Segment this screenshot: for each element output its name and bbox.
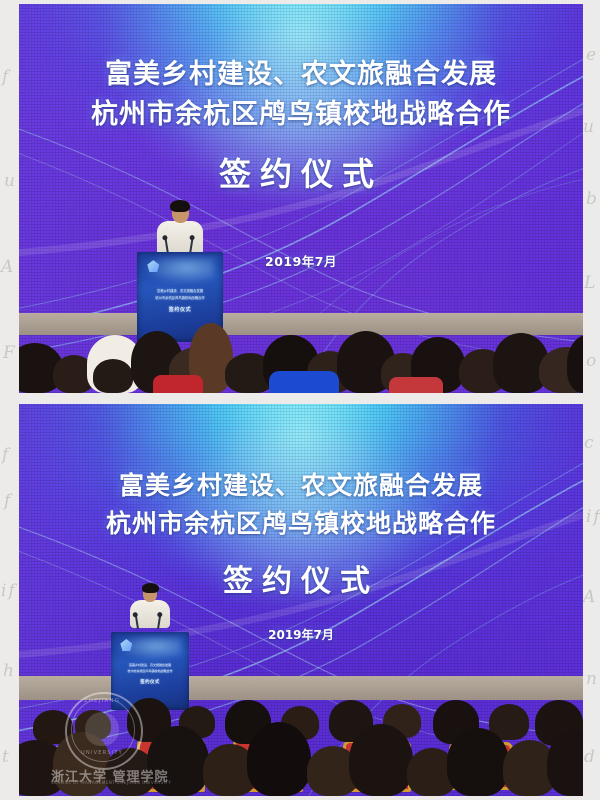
audience-rows bbox=[19, 676, 583, 796]
screen-title-line-1: 富美乡村建设、农文旅融合发展 bbox=[19, 466, 583, 502]
audience-body bbox=[153, 375, 203, 393]
audience-head bbox=[93, 359, 133, 393]
audience-head bbox=[447, 728, 509, 796]
audience-body bbox=[269, 371, 339, 393]
screen-date: 2019年7月 bbox=[19, 626, 583, 643]
screen-title-line-1: 富美乡村建设、农文旅融合发展 bbox=[19, 52, 583, 91]
screen-title-line-3: 签约仪式 bbox=[19, 556, 583, 600]
audience-body bbox=[389, 377, 443, 393]
speaker-head bbox=[172, 202, 189, 223]
audience-row bbox=[19, 311, 583, 393]
conference-photo-audience: 富美乡村建设、农文旅融合发展 杭州市余杭区鸬鸟镇校地战略合作 签约仪式 2019… bbox=[19, 404, 583, 796]
speaker-hair bbox=[142, 583, 159, 593]
speaker-hair bbox=[170, 200, 190, 212]
screen-title-line-2: 杭州市余杭区鸬鸟镇校地战略合作 bbox=[19, 92, 583, 131]
lectern-sign-line-2: 杭州市余杭区鸬鸟镇校地战略合作 bbox=[111, 669, 189, 673]
audience-head bbox=[567, 335, 583, 393]
lectern-sign-line-2: 杭州市余杭区鸬鸟镇校地战略合作 bbox=[137, 295, 223, 300]
audience-head bbox=[349, 724, 413, 796]
audience-head bbox=[247, 722, 311, 796]
lectern-sign-line-1: 富美乡村建设、农文旅融合发展 bbox=[111, 663, 189, 667]
audience-head bbox=[53, 732, 111, 796]
conference-photo-wide: 富美乡村建设、农文旅融合发展 杭州市余杭区鸬鸟镇校地战略合作 签约仪式 2019… bbox=[19, 4, 583, 393]
screen-title-line-2: 杭州市余杭区鸬鸟镇校地战略合作 bbox=[19, 504, 583, 540]
speaker-head bbox=[143, 585, 157, 602]
screen-title-line-3: 签约仪式 bbox=[19, 149, 583, 195]
lectern-sign-line-1: 富美乡村建设、农文旅融合发展 bbox=[137, 288, 223, 293]
audience-head bbox=[147, 726, 209, 796]
screen-date: 2019年7月 bbox=[19, 251, 583, 270]
speaker bbox=[157, 202, 203, 255]
